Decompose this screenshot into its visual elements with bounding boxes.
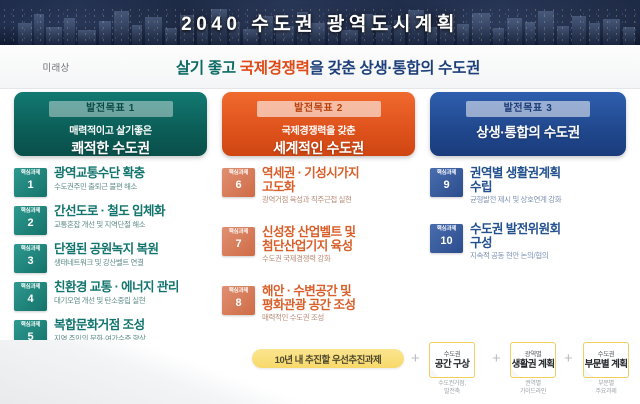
task-badge-label: 핵심과제 — [14, 244, 47, 255]
task-badge-label: 핵심과제 — [14, 206, 47, 217]
doc-main-label: 생활권 계획 — [512, 359, 555, 370]
task-title: 해안 · 수변공간 및 평화관광 공간 조성 — [262, 285, 422, 312]
task-title: 간선도로 · 철도 입체화 — [54, 205, 214, 219]
task-badge-label: 핵심과제 — [430, 168, 463, 179]
vision-statement: 살기 좋고 국제경쟁력을 갖춘 상생·통합의 수도권 — [112, 56, 640, 78]
task-item[interactable]: 핵심과제 6 역세권 · 기성시가지 고도화 광역거점 육성과 직주근접 실현 — [222, 166, 422, 204]
task-title: 친환경 교통 · 에너지 관리 — [54, 281, 214, 295]
goal-tag-2: 발전목표 2 — [257, 101, 381, 117]
doc-top-label: 광역별 — [525, 351, 542, 359]
task-badge: 핵심과제 2 — [14, 206, 47, 235]
goal-subtitle-2: 국제경쟁력을 갖춘 — [222, 122, 415, 137]
goal-header-3: 발전목표 3 상생·통합의 수도권 — [430, 92, 626, 156]
task-badge-number: 3 — [14, 255, 47, 267]
task-column-3: 핵심과제 9 권역별 생활권계획 수립 균형발전 제시 및 상호연계 강화 핵심… — [430, 166, 630, 267]
doc-top-label: 수도권 — [598, 351, 615, 359]
task-item[interactable]: 핵심과제 1 광역교통수단 확충 수도권주민 출퇴근 불편 해소 — [14, 166, 214, 197]
task-badge-number: 4 — [14, 293, 47, 305]
task-badge-number: 6 — [222, 179, 255, 191]
task-badge: 핵심과제 8 — [222, 286, 255, 315]
task-item[interactable]: 핵심과제 8 해안 · 수변공간 및 평화관광 공간 조성 매력적인 수도권 조… — [222, 284, 422, 322]
priority-tasks-pill[interactable]: 10년 내 추진할 우선추진과제 — [252, 349, 404, 368]
page-title: 2040 수도권 광역도시계획 — [0, 0, 640, 45]
doc-card-sectoral-plan[interactable]: 수도권 부문별 계획 부문별 주요과제 — [578, 342, 634, 396]
plus-icon: + — [564, 352, 573, 366]
goal-title-1: 쾌적한 수도권 — [14, 138, 207, 158]
task-item[interactable]: 핵심과제 9 권역별 생활권계획 수립 균형발전 제시 및 상호연계 강화 — [430, 166, 630, 204]
task-desc: 매력적인 수도권 조성 — [262, 313, 422, 322]
goal-title-2: 세계적인 수도권 — [222, 138, 415, 158]
goal-tag-1: 발전목표 1 — [49, 101, 173, 117]
plus-icon: + — [411, 352, 420, 366]
vision-row: 미래상 살기 좋고 국제경쟁력을 갖춘 상생·통합의 수도권 — [0, 45, 640, 89]
bottom-strip: 10년 내 추진할 우선추진과제 + 수도권 공간 구상 수도권거점, 발전축 … — [0, 340, 640, 404]
task-badge-number: 1 — [14, 179, 47, 191]
task-badge-label: 핵심과제 — [14, 320, 47, 331]
plus-icon: + — [492, 352, 501, 366]
goal-tag-3: 발전목표 3 — [466, 101, 590, 117]
task-desc: 생태네트워크 및 강산벨트 연결 — [54, 258, 214, 267]
task-badge: 핵심과제 10 — [430, 224, 463, 253]
infographic-root: 2040 수도권 광역도시계획 미래상 살기 좋고 국제경쟁력을 갖춘 상생·통… — [0, 0, 640, 404]
vision-part-integrated: 을 갖춘 상생·통합의 수도권 — [310, 60, 480, 77]
task-badge: 핵심과제 1 — [14, 168, 47, 197]
task-title: 역세권 · 기성시가지 고도화 — [262, 167, 422, 194]
task-item[interactable]: 핵심과제 2 간선도로 · 철도 입체화 교통혼잡 개선 및 지역단절 해소 — [14, 204, 214, 235]
task-title: 권역별 생활권계획 수립 — [470, 167, 630, 194]
goal-header-2: 발전목표 2 국제경쟁력을 갖춘 세계적인 수도권 — [222, 92, 415, 156]
goal-title-3: 상생·통합의 수도권 — [430, 125, 626, 140]
task-desc: 수도권주민 출퇴근 불편 해소 — [54, 182, 214, 191]
task-desc: 교통혼잡 개선 및 지역단절 해소 — [54, 220, 214, 229]
task-badge-label: 핵심과제 — [222, 286, 255, 297]
task-column-2: 핵심과제 6 역세권 · 기성시가지 고도화 광역거점 육성과 직주근접 실현 … — [222, 166, 422, 329]
doc-top-label: 수도권 — [444, 351, 461, 359]
document-icon: 수도권 부문별 계획 — [583, 342, 629, 378]
task-badge-label: 핵심과제 — [430, 224, 463, 235]
task-item[interactable]: 핵심과제 7 신성장 산업벨트 및 첨단산업기지 육성 수도권 국제경쟁력 강화 — [222, 225, 422, 263]
task-badge: 핵심과제 3 — [14, 244, 47, 273]
task-item[interactable]: 핵심과제 10 수도권 발전위원회 구성 지속적 공동 현안 논의/협의 — [430, 222, 630, 260]
task-title: 복합문화거점 조성 — [54, 319, 214, 333]
task-item[interactable]: 핵심과제 3 단절된 공원녹지 복원 생태네트워크 및 강산벨트 연결 — [14, 242, 214, 273]
task-title: 신성장 산업벨트 및 첨단산업기지 육성 — [262, 226, 422, 253]
task-badge-label: 핵심과제 — [14, 168, 47, 179]
task-desc: 지속적 공동 현안 논의/협의 — [470, 251, 630, 260]
goal-header-1: 발전목표 1 매력적이고 살기좋은 쾌적한 수도권 — [14, 92, 207, 156]
header-banner: 2040 수도권 광역도시계획 — [0, 0, 640, 45]
task-badge: 핵심과제 6 — [222, 168, 255, 197]
task-title: 수도권 발전위원회 구성 — [470, 223, 630, 250]
doc-card-spatial-concept[interactable]: 수도권 공간 구상 수도권거점, 발전축 — [424, 342, 480, 396]
task-desc: 광역거점 육성과 직주근접 실현 — [262, 195, 422, 204]
task-badge: 핵심과제 7 — [222, 227, 255, 256]
document-icon: 수도권 공간 구상 — [429, 342, 475, 378]
task-item[interactable]: 핵심과제 4 친환경 교통 · 에너지 관리 대기오염 개선 및 탄소중립 실현 — [14, 280, 214, 311]
task-badge-number: 7 — [222, 238, 255, 250]
vision-part-competitive: 국제경쟁력 — [240, 60, 310, 77]
task-desc: 균형발전 제시 및 상호연계 강화 — [470, 195, 630, 204]
doc-card-living-zone-plan[interactable]: 광역별 생활권 계획 권역별 가이드라인 — [505, 342, 561, 396]
task-desc: 대기오염 개선 및 탄소중립 실현 — [54, 296, 214, 305]
vision-label: 미래상 — [0, 60, 112, 74]
task-badge-number: 9 — [430, 179, 463, 191]
goal-subtitle-1: 매력적이고 살기좋은 — [14, 122, 207, 137]
task-badge: 핵심과제 4 — [14, 282, 47, 311]
doc-main-label: 공간 구상 — [435, 359, 470, 370]
vision-part-livable: 살기 좋고 — [176, 60, 240, 77]
document-icon: 광역별 생활권 계획 — [510, 342, 556, 378]
task-column-1: 핵심과제 1 광역교통수단 확충 수도권주민 출퇴근 불편 해소 핵심과제 2 … — [14, 166, 214, 356]
task-badge-number: 2 — [14, 217, 47, 229]
task-badge: 핵심과제 9 — [430, 168, 463, 197]
doc-caption: 부문별 주요과제 — [578, 381, 634, 396]
task-title: 단절된 공원녹지 복원 — [54, 243, 214, 257]
task-badge-label: 핵심과제 — [14, 282, 47, 293]
task-badge-number: 8 — [222, 297, 255, 309]
doc-caption: 수도권거점, 발전축 — [424, 381, 480, 396]
task-desc: 수도권 국제경쟁력 강화 — [262, 254, 422, 263]
doc-main-label: 부문별 계획 — [585, 359, 628, 370]
task-badge-label: 핵심과제 — [222, 227, 255, 238]
task-badge-label: 핵심과제 — [222, 168, 255, 179]
task-title: 광역교통수단 확충 — [54, 167, 214, 181]
doc-caption: 권역별 가이드라인 — [505, 381, 561, 396]
task-badge-number: 10 — [430, 235, 463, 247]
